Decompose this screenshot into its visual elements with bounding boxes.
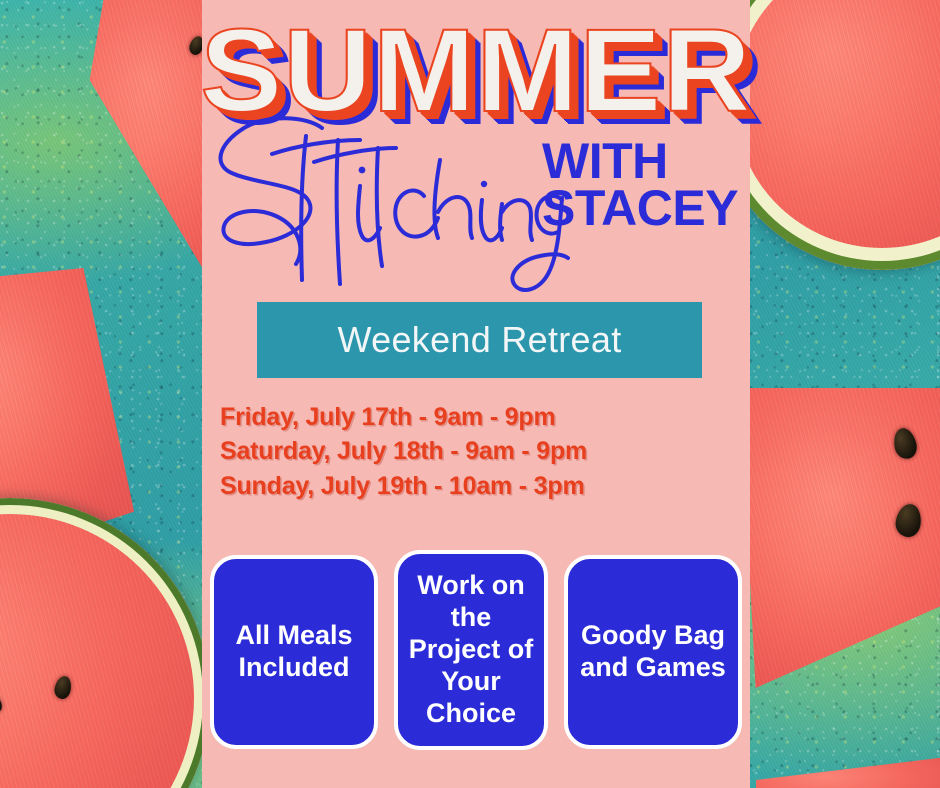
weekend-retreat-banner: Weekend Retreat — [257, 302, 702, 378]
content-panel: SUMMER — [202, 0, 750, 788]
schedule-line-friday: Friday, July 17th - 9am - 9pm — [220, 400, 740, 434]
watermelon-slice-top-right — [742, 0, 940, 280]
poster-canvas: SUMMER — [0, 0, 940, 788]
schedule-line-saturday: Saturday, July 18th - 9am - 9pm — [220, 434, 740, 468]
schedule-line-sunday: Sunday, July 19th - 10am - 3pm — [220, 469, 740, 503]
feature-box-project: Work on the Project of Your Choice — [394, 550, 548, 750]
schedule-list: Friday, July 17th - 9am - 9pm Saturday, … — [220, 400, 740, 503]
watermelon-wedge-bottom-left — [0, 498, 210, 788]
feature-box-group: All Meals Included Work on the Project o… — [202, 548, 750, 758]
stacey-label: STACEY — [542, 185, 742, 232]
weekend-retreat-label: Weekend Retreat — [338, 319, 622, 361]
headline-stitching-script — [210, 108, 570, 298]
feature-box-goody-bag-label: Goody Bag and Games — [568, 620, 738, 684]
melon-rind-green — [742, 0, 940, 270]
stitching-script-art — [210, 108, 570, 298]
melon-slice-shape — [742, 0, 940, 270]
melon-wedge-shape — [0, 498, 210, 788]
feature-box-meals-label: All Meals Included — [214, 620, 374, 684]
feature-box-goody-bag: Goody Bag and Games — [564, 555, 742, 749]
feature-box-meals: All Meals Included — [210, 555, 378, 749]
feature-box-project-label: Work on the Project of Your Choice — [398, 570, 544, 729]
headline-with-stacey: WITH STACEY — [542, 138, 742, 232]
